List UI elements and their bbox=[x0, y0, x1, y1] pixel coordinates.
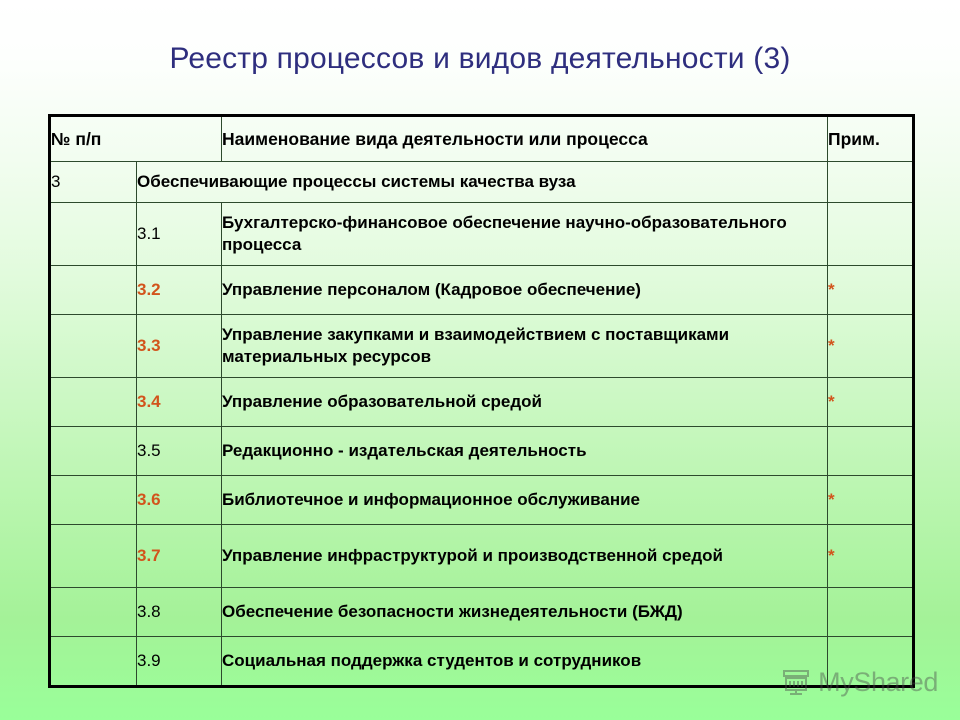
group-row-note bbox=[828, 162, 914, 203]
row-note: * bbox=[828, 525, 914, 588]
table-group-row: 3Обеспечивающие процессы системы качеств… bbox=[50, 162, 914, 203]
table-row: 3.9Социальная поддержка студентов и сотр… bbox=[50, 637, 914, 687]
row-spacer-cell-7 bbox=[50, 588, 137, 637]
row-number: 3.5 bbox=[137, 427, 222, 476]
page-title: Реестр процессов и видов деятельности (3… bbox=[0, 42, 960, 77]
table-row: 3.8Обеспечение безопасности жизнедеятель… bbox=[50, 588, 914, 637]
slide-canvas: Реестр процессов и видов деятельности (3… bbox=[0, 0, 960, 720]
table-row: 3.4Управление образовательной средой* bbox=[50, 378, 914, 427]
row-spacer-cell-6 bbox=[50, 525, 137, 588]
table-row: 3.1Бухгалтерско-финансовое обеспечение н… bbox=[50, 203, 914, 266]
row-note: * bbox=[828, 315, 914, 378]
table-row: 3.7Управление инфраструктурой и производ… bbox=[50, 525, 914, 588]
row-note: * bbox=[828, 378, 914, 427]
row-number: 3.9 bbox=[137, 637, 222, 687]
table-row: 3.3Управление закупками и взаимодействие… bbox=[50, 315, 914, 378]
row-name: Обеспечение безопасности жизнедеятельнос… bbox=[222, 588, 828, 637]
row-note bbox=[828, 427, 914, 476]
registry-table: № п/пНаименование вида деятельности или … bbox=[48, 114, 915, 688]
row-number: 3.2 bbox=[137, 266, 222, 315]
row-spacer-cell-1 bbox=[50, 266, 137, 315]
table-row: 3.2Управление персоналом (Кадровое обесп… bbox=[50, 266, 914, 315]
table-header-row: № п/пНаименование вида деятельности или … bbox=[50, 116, 914, 162]
row-name: Библиотечное и информационное обслуживан… bbox=[222, 476, 828, 525]
table-row: 3.6Библиотечное и информационное обслужи… bbox=[50, 476, 914, 525]
row-name: Управление закупками и взаимодействием с… bbox=[222, 315, 828, 378]
row-name: Управление инфраструктурой и производств… bbox=[222, 525, 828, 588]
row-number: 3.4 bbox=[137, 378, 222, 427]
row-name: Редакционно - издательская деятельность bbox=[222, 427, 828, 476]
row-spacer-cell-3 bbox=[50, 378, 137, 427]
row-spacer-cell-4 bbox=[50, 427, 137, 476]
column-header-note: Прим. bbox=[828, 116, 914, 162]
row-number: 3.7 bbox=[137, 525, 222, 588]
row-number: 3.8 bbox=[137, 588, 222, 637]
row-number: 3.1 bbox=[137, 203, 222, 266]
row-name: Бухгалтерско-финансовое обеспечение науч… bbox=[222, 203, 828, 266]
row-spacer-cell-2 bbox=[50, 315, 137, 378]
row-note bbox=[828, 588, 914, 637]
row-number: 3.6 bbox=[137, 476, 222, 525]
group-row-name: Обеспечивающие процессы системы качества… bbox=[137, 162, 828, 203]
row-number: 3.3 bbox=[137, 315, 222, 378]
column-header-number: № п/п bbox=[50, 116, 222, 162]
row-name: Управление образовательной средой bbox=[222, 378, 828, 427]
row-note: * bbox=[828, 266, 914, 315]
row-spacer-cell-5 bbox=[50, 476, 137, 525]
row-name: Социальная поддержка студентов и сотрудн… bbox=[222, 637, 828, 687]
row-spacer-cell-0 bbox=[50, 203, 137, 266]
row-note: * bbox=[828, 476, 914, 525]
group-row-number: 3 bbox=[50, 162, 137, 203]
row-note bbox=[828, 637, 914, 687]
row-spacer-cell-8 bbox=[50, 637, 137, 687]
table-row: 3.5Редакционно - издательская деятельнос… bbox=[50, 427, 914, 476]
column-header-name: Наименование вида деятельности или проце… bbox=[222, 116, 828, 162]
row-note bbox=[828, 203, 914, 266]
row-name: Управление персоналом (Кадровое обеспече… bbox=[222, 266, 828, 315]
